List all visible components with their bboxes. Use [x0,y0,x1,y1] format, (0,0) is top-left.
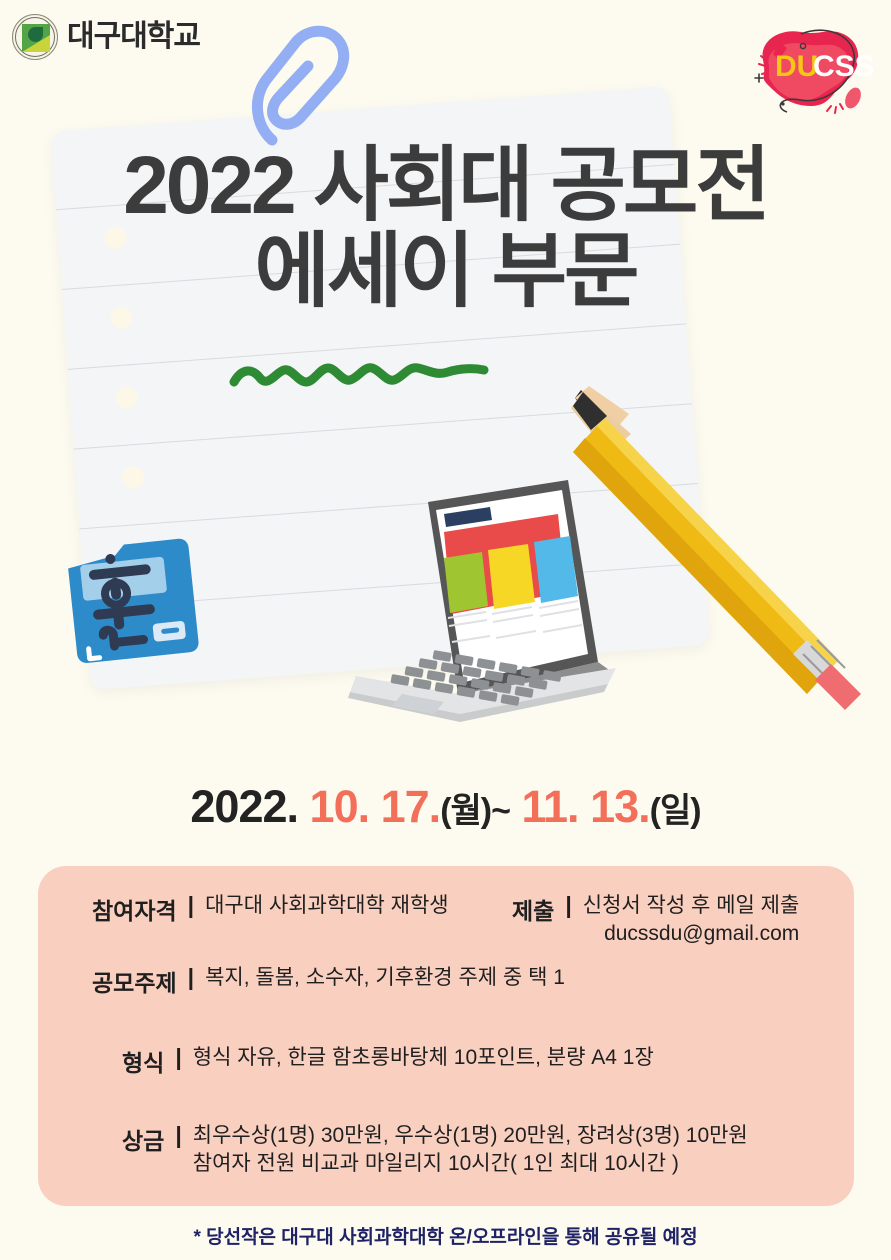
date-start-day: 17. [381,781,441,832]
prize-value-wrap: 최우수상(1명) 30만원, 우수상(1명) 20만원, 장려상(3명) 10만… [193,1122,748,1179]
topic-label: 공모주제 [92,964,177,998]
university-name: 대구대학교 [67,22,200,52]
event-date-range: 2022. 10. 17.(월)~ 11. 13.(일) [0,781,891,833]
topic-divider: | [188,964,194,991]
pencil-icon [545,378,875,718]
prize-value-line-1: 최우수상(1명) 30만원, 우수상(1명) 20만원, 장려상(3명) 10만… [193,1122,748,1150]
format-label: 형식 [122,1044,164,1078]
prize-label: 상금 [122,1122,164,1156]
info-row-format: 형식 | 형식 자유, 한글 함초롱바탕체 10포인트, 분량 A4 1장 [122,1044,654,1078]
qualification-label: 참여자격 [92,892,177,926]
qualification-value: 대구대 사회과학대학 재학생 [205,892,449,920]
info-row-topic: 공모주제 | 복지, 돌봄, 소수자, 기후환경 주제 중 택 1 [92,964,565,998]
date-end-month: 11. [521,781,578,832]
details-panel: 참여자격 | 대구대 사회과학대학 재학생 제출 | 신청서 작성 후 메일 제… [38,866,854,1206]
info-row-submission: 제출 | 신청서 작성 후 메일 제출 ducssdu@gmail.com [512,892,799,949]
info-row-qualification: 참여자격 | 대구대 사회과학대학 재학생 [92,892,449,926]
submission-label: 제출 [512,892,554,926]
format-divider: | [175,1044,181,1071]
title-line-1: 2022 사회대 공모전 [0,146,891,226]
topic-value: 복지, 돌봄, 소수자, 기후환경 주제 중 택 1 [205,964,565,992]
daegu-university-emblem-icon [12,14,58,60]
blue-folder-card-icon [58,532,206,672]
date-start-weekday: (월)~ [440,792,510,830]
poster-canvas: 대구대학교 DU CSS [0,0,891,1260]
submission-value: 신청서 작성 후 메일 제출 [583,894,800,917]
prize-divider: | [175,1122,181,1149]
date-start-month: 10. [310,781,370,832]
ducss-logo-css: CSS [813,50,873,83]
title-line-2: 에세이 부문 [0,232,891,312]
paperclip-icon [238,22,358,152]
submission-divider: | [565,892,571,919]
info-row-prize: 상금 | 최우수상(1명) 30만원, 우수상(1명) 20만원, 장려상(3명… [122,1122,748,1179]
submission-value-wrap: 신청서 작성 후 메일 제출 ducssdu@gmail.com [583,892,800,949]
qualification-divider: | [188,892,194,919]
university-logo: 대구대학교 [12,14,200,60]
date-end-weekday: (일) [650,792,701,830]
ducss-logo-du: DU [775,50,818,83]
ducss-logo-icon: DU CSS [735,14,873,122]
footer-note: * 당선작은 대구대 사회과학대학 온/오프라인을 통해 공유될 예정 [0,1222,891,1249]
submission-email[interactable]: ducssdu@gmail.com [583,920,800,948]
poster-title: 2022 사회대 공모전 에세이 부문 [0,146,891,313]
squiggle-underline-icon [228,358,490,392]
format-value: 형식 자유, 한글 함초롱바탕체 10포인트, 분량 A4 1장 [193,1044,654,1072]
date-end-day: 13. [590,781,650,832]
prize-value-line-2: 참여자 전원 비교과 마일리지 10시간( 1인 최대 10시간 ) [193,1150,748,1178]
date-year: 2022. [190,781,298,832]
